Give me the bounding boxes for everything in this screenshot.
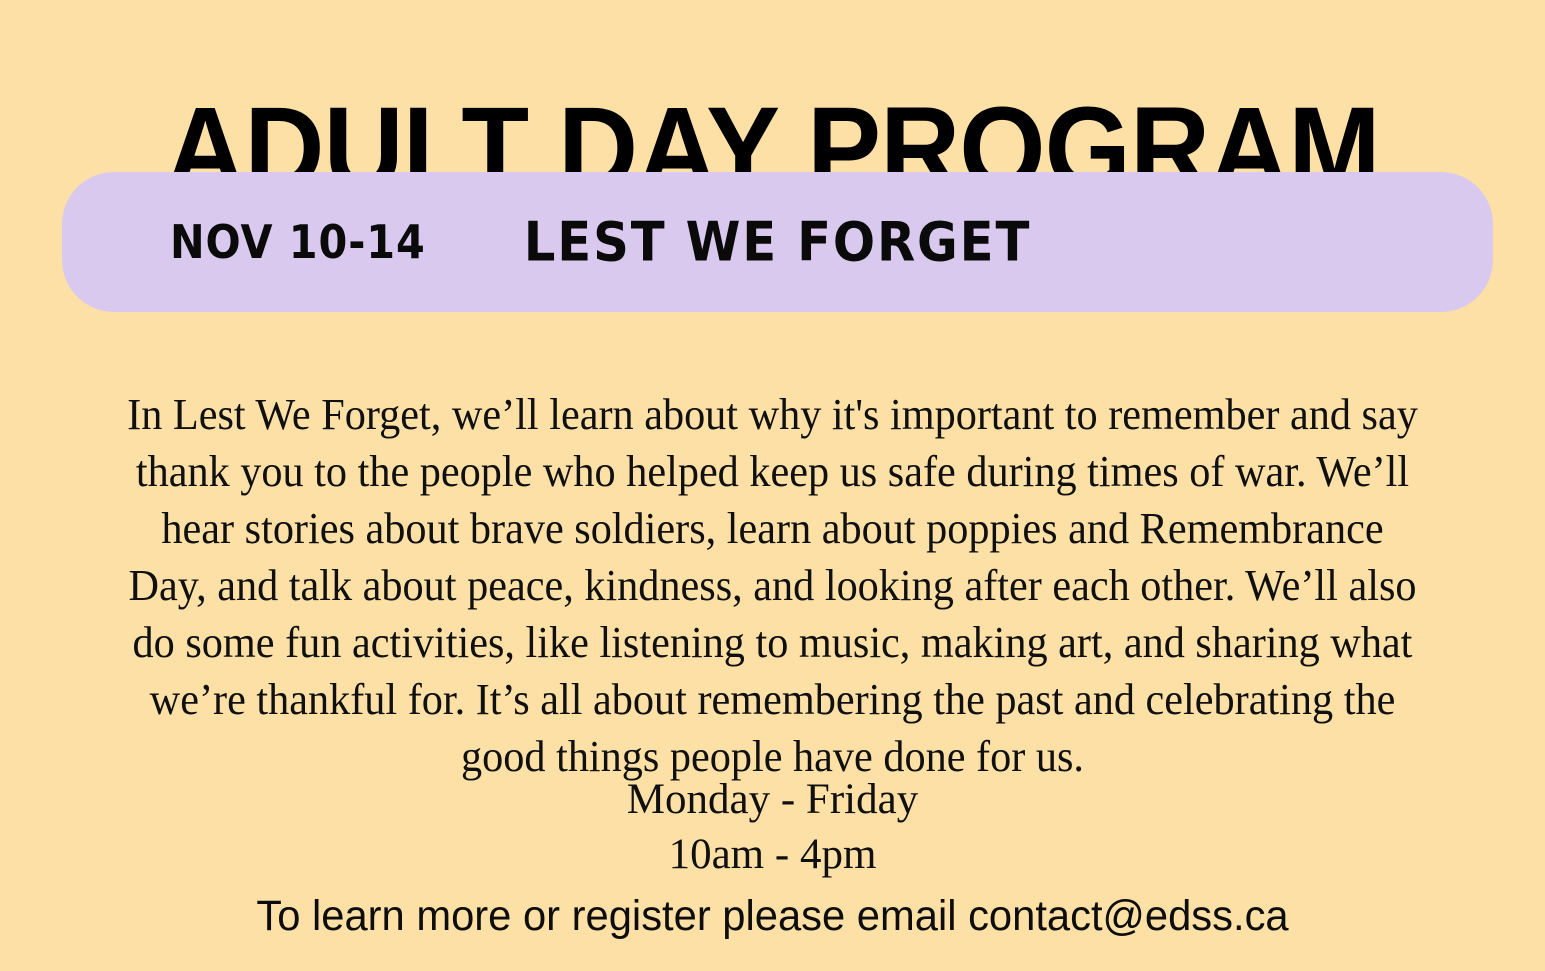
program-banner: NOV 10-14 LEST WE FORGET <box>62 172 1493 312</box>
banner-theme-title: LEST WE FORGET <box>119 211 1436 274</box>
program-description: In Lest We Forget, we’ll learn about why… <box>122 386 1423 785</box>
schedule-days: Monday - Friday <box>0 772 1545 827</box>
schedule-block: Monday - Friday 10am - 4pm <box>0 772 1545 882</box>
schedule-hours: 10am - 4pm <box>0 827 1545 882</box>
contact-line: To learn more or register please email c… <box>23 890 1522 942</box>
adult-day-program-poster: ADULT DAY PROGRAM NOV 10-14 LEST WE FORG… <box>0 0 1545 971</box>
